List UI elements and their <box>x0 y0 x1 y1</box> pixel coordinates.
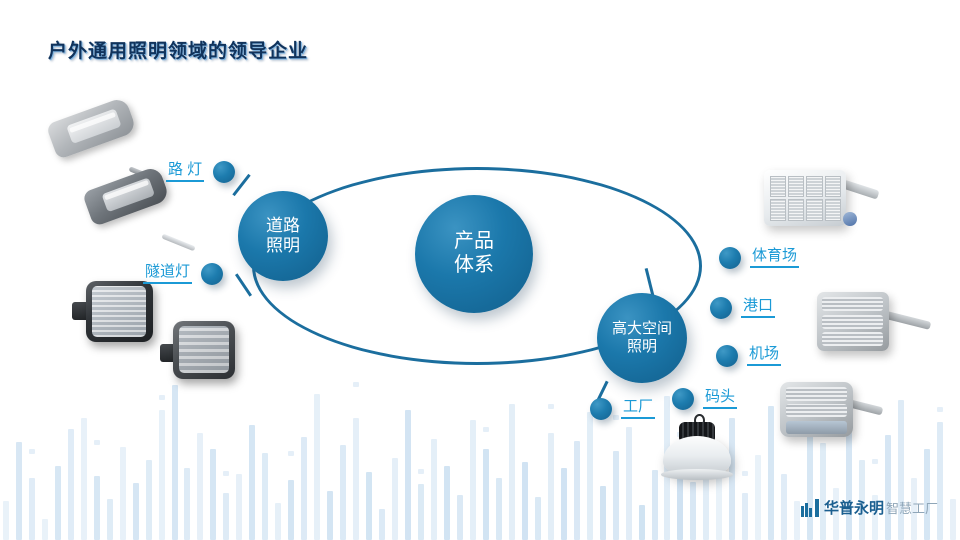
decorative-bar <box>470 420 476 540</box>
decorative-bar-tick <box>29 449 35 454</box>
hub-road-lighting-line1: 道路 <box>266 216 300 236</box>
decorative-bar-tick <box>548 404 554 409</box>
decorative-bar-tick <box>353 382 359 387</box>
decorative-bar <box>210 449 216 540</box>
decorative-bar <box>249 425 255 540</box>
node-tunnel-lamp[interactable]: 隧道灯 <box>143 263 223 285</box>
decorative-bar <box>288 480 294 540</box>
decorative-bar <box>146 460 152 540</box>
hub-product-system-line2: 体系 <box>454 254 494 278</box>
decorative-bar <box>16 442 22 540</box>
decorative-bar <box>652 470 658 540</box>
decorative-bar <box>639 505 645 540</box>
hub-product-system[interactable]: 产品 体系 <box>415 195 533 313</box>
decorative-bar <box>794 501 800 540</box>
node-port-bullet <box>710 297 732 319</box>
decorative-bar <box>820 443 826 540</box>
decorative-bar <box>184 468 190 540</box>
node-street-lamp-bullet <box>213 161 235 183</box>
node-street-lamp[interactable]: 路 灯 <box>166 161 235 183</box>
decorative-bar <box>548 433 554 540</box>
node-factory-label: 工厂 <box>621 399 655 420</box>
decorative-bar <box>29 478 35 540</box>
node-airport[interactable]: 机场 <box>716 345 781 367</box>
hub-road-lighting[interactable]: 道路 照明 <box>238 191 328 281</box>
page-title: 户外通用照明领域的领导企业 <box>48 36 308 63</box>
decorative-bar <box>483 449 489 540</box>
decorative-bar-tick <box>483 427 489 432</box>
decorative-bar <box>172 385 178 540</box>
node-factory-bullet <box>590 398 612 420</box>
decorative-bar-tick <box>223 471 229 476</box>
decorative-bar <box>924 449 930 540</box>
decorative-bar-tick <box>288 451 294 456</box>
decorative-bar <box>159 410 165 540</box>
node-wharf-label: 码头 <box>703 389 737 410</box>
node-stadium-label: 体育场 <box>750 248 799 269</box>
node-factory[interactable]: 工厂 <box>590 398 655 420</box>
decorative-bar <box>742 493 748 540</box>
decorative-bar <box>444 466 450 540</box>
decorative-bar <box>600 486 606 540</box>
product-image-modflood-1 <box>812 288 928 358</box>
decorative-bar <box>937 422 943 540</box>
decorative-bar <box>574 441 580 540</box>
decorative-bar <box>133 483 139 540</box>
decorative-bar <box>807 429 813 540</box>
connector-road-bottom <box>235 273 252 296</box>
decorative-bar <box>55 466 61 540</box>
decorative-bar <box>314 394 320 540</box>
product-image-tunnel-2 <box>160 318 240 384</box>
decorative-bar <box>626 427 632 540</box>
decorative-bar <box>418 484 424 540</box>
factory-logo-icon <box>801 499 819 517</box>
decorative-bar <box>768 406 774 540</box>
decorative-bar <box>613 451 619 540</box>
decorative-bar <box>340 445 346 540</box>
node-port-label: 港口 <box>741 298 775 319</box>
decorative-bar-tick <box>418 469 424 474</box>
decorative-bar-tick <box>872 459 878 464</box>
hub-highbay-lighting-line1: 高大空间 <box>612 320 672 338</box>
logo-brand-text: 华普永明 <box>824 497 884 518</box>
decorative-bar <box>81 418 87 540</box>
decorative-bar-tick <box>94 440 100 445</box>
decorative-bar <box>392 458 398 540</box>
decorative-bar <box>522 462 528 540</box>
decorative-bar <box>509 404 515 540</box>
node-street-lamp-label: 路 灯 <box>166 162 204 183</box>
slide-canvas: 户外通用照明领域的领导企业 <box>0 0 960 540</box>
decorative-bar <box>197 433 203 540</box>
product-image-stadium-1 <box>762 166 870 238</box>
product-image-tunnel-1 <box>72 278 158 348</box>
decorative-bar <box>68 429 74 540</box>
decorative-bar <box>275 503 281 540</box>
logo-suffix-text: 智慧工厂 <box>886 498 938 517</box>
hub-highbay-lighting-line2: 照明 <box>612 338 672 356</box>
decorative-bar <box>379 509 385 540</box>
product-image-streetlamp-2 <box>88 192 192 248</box>
decorative-bar <box>496 478 502 540</box>
decorative-bar <box>301 437 307 540</box>
company-logo: 华普永明 智慧工厂 <box>801 497 938 518</box>
node-stadium-bullet <box>719 247 741 269</box>
decorative-bar-tick <box>159 395 165 400</box>
decorative-bar <box>781 474 787 540</box>
product-image-highbay-1 <box>660 414 734 486</box>
decorative-bar <box>42 519 48 540</box>
node-airport-bullet <box>716 345 738 367</box>
hub-highbay-lighting[interactable]: 高大空间 照明 <box>597 293 687 383</box>
decorative-bar <box>431 439 437 540</box>
node-tunnel-lamp-bullet <box>201 263 223 285</box>
product-image-modflood-2 <box>778 378 888 444</box>
decorative-bar <box>3 501 9 540</box>
decorative-bar <box>223 493 229 540</box>
decorative-bar <box>535 497 541 540</box>
decorative-bar-tick <box>742 471 748 476</box>
decorative-bar <box>366 472 372 540</box>
node-wharf[interactable]: 码头 <box>672 388 737 410</box>
decorative-bar <box>755 455 761 540</box>
node-stadium[interactable]: 体育场 <box>719 247 799 269</box>
decorative-bar <box>236 474 242 540</box>
decorative-bar <box>561 468 567 540</box>
decorative-bar <box>107 499 113 540</box>
decorative-bar <box>950 499 956 540</box>
node-port[interactable]: 港口 <box>710 297 775 319</box>
decorative-bar <box>885 435 891 540</box>
hub-product-system-line1: 产品 <box>454 230 494 254</box>
decorative-bar <box>94 476 100 540</box>
decorative-bar-tick <box>937 407 943 412</box>
decorative-bar <box>353 418 359 540</box>
decorative-bar <box>457 495 463 540</box>
node-tunnel-lamp-label: 隧道灯 <box>143 264 192 285</box>
hub-road-lighting-line2: 照明 <box>266 236 300 256</box>
node-wharf-bullet <box>672 388 694 410</box>
decorative-bar <box>262 453 268 540</box>
decorative-bar <box>587 412 593 540</box>
decorative-bar <box>327 491 333 540</box>
node-airport-label: 机场 <box>747 346 781 367</box>
decorative-bar <box>405 410 411 540</box>
decorative-bar <box>898 400 904 540</box>
decorative-bar <box>120 447 126 540</box>
decorative-bar <box>690 482 696 540</box>
